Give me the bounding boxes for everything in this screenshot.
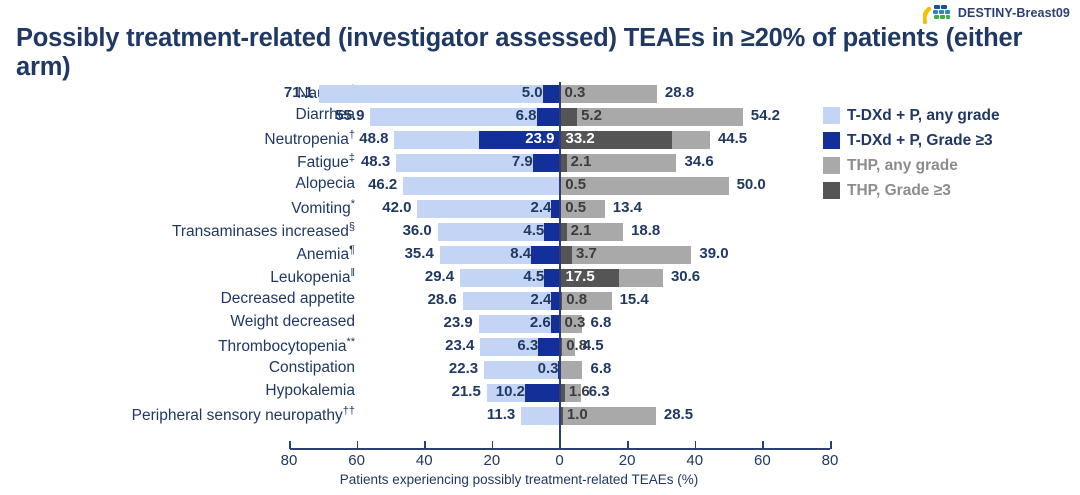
- logo-brand-bold: DESTINY: [958, 6, 1012, 20]
- category-label: Leukopenia‖: [0, 267, 355, 287]
- value-thp-grade3: 0.5: [565, 176, 625, 194]
- value-thp-any-grade: 34.6: [684, 153, 744, 171]
- axis-tick: [492, 441, 494, 449]
- category-label: Hypokalemia: [0, 382, 355, 400]
- value-tdxd-grade3: 7.9: [477, 153, 533, 171]
- legend-item: THP, any grade: [823, 156, 1000, 175]
- value-thp-any-grade: 6.8: [590, 314, 650, 332]
- value-thp-grade3: 0.8: [566, 291, 626, 309]
- bar-tdxd-grade3: [537, 108, 560, 126]
- value-thp-any-grade: 54.2: [751, 107, 811, 125]
- chart-row: Decreased appetite28.62.40.815.4: [0, 289, 1080, 312]
- category-label: Fatigue‡: [0, 152, 355, 172]
- value-tdxd-any-grade: 35.4: [378, 245, 434, 263]
- bar-tdxd-any-grade: [403, 177, 559, 195]
- value-thp-any-grade: 4.5: [583, 337, 643, 355]
- logo-mark: [923, 2, 953, 24]
- chart-row: Hypokalemia21.510.21.66.3: [0, 381, 1080, 404]
- value-tdxd-grade3: 2.4: [495, 199, 551, 217]
- logo-brand-rest: -Breast09: [1012, 6, 1070, 20]
- value-thp-any-grade: 18.8: [631, 222, 691, 240]
- category-label: Peripheral sensory neuropathy††: [0, 405, 355, 425]
- axis-tick-label: 80: [810, 452, 850, 469]
- bar-tdxd-grade3: [525, 384, 559, 402]
- value-tdxd-grade3: 4.5: [488, 222, 544, 240]
- value-tdxd-grade3: 6.3: [482, 337, 538, 355]
- value-thp-any-grade: 44.5: [718, 130, 778, 148]
- axis-tick: [762, 441, 764, 449]
- value-thp-any-grade: 50.0: [737, 176, 797, 194]
- x-axis-label: Patients experiencing possibly treatment…: [0, 472, 1080, 487]
- value-tdxd-grade3: 8.4: [475, 245, 531, 263]
- value-thp-grade3: 33.2: [566, 130, 626, 148]
- value-thp-any-grade: 39.0: [699, 245, 759, 263]
- category-label: Vomiting*: [0, 198, 355, 218]
- category-label: Alopecia: [0, 175, 355, 193]
- axis-tick: [357, 441, 359, 449]
- axis-tick: [560, 441, 562, 449]
- axis-tick-label: 0: [540, 452, 580, 469]
- legend-swatch: [823, 182, 840, 199]
- axis-tick-label: 40: [404, 452, 444, 469]
- value-tdxd-grade3: 0.3: [502, 360, 558, 378]
- bar-thp-grade3: [560, 246, 573, 264]
- legend-label: THP, Grade ≥3: [847, 182, 951, 200]
- value-thp-any-grade: 6.8: [590, 360, 650, 378]
- axis-tick-label: 80: [269, 452, 309, 469]
- legend-label: T-DXd + P, Grade ≥3: [847, 132, 993, 150]
- legend-item: THP, Grade ≥3: [823, 181, 1000, 200]
- category-label: Thrombocytopenia**: [0, 336, 355, 356]
- category-label: Neutropenia†: [0, 129, 355, 149]
- value-thp-grade3: 2.1: [571, 153, 631, 171]
- value-tdxd-any-grade: 29.4: [398, 268, 454, 286]
- axis-tick: [289, 441, 291, 449]
- value-thp-any-grade: 30.6: [671, 268, 731, 286]
- axis-tick-label: 60: [337, 452, 377, 469]
- value-tdxd-grade3: 5.0: [487, 84, 543, 102]
- value-tdxd-any-grade: 28.6: [401, 291, 457, 309]
- page-title: Possibly treatment-related (investigator…: [16, 24, 1066, 82]
- value-thp-any-grade: 6.3: [589, 383, 649, 401]
- logo-text: DESTINY-Breast09: [958, 6, 1070, 20]
- legend-swatch: [823, 157, 840, 174]
- value-tdxd-any-grade: 46.2: [341, 176, 397, 194]
- legend-swatch: [823, 107, 840, 124]
- bar-tdxd-grade3: [543, 85, 560, 103]
- value-thp-grade3: 5.2: [581, 107, 641, 125]
- value-tdxd-any-grade: 42.0: [355, 199, 411, 217]
- value-thp-any-grade: 13.4: [613, 199, 673, 217]
- value-thp-grade3: 1.0: [567, 406, 627, 424]
- chart-legend: T-DXd + P, any gradeT-DXd + P, Grade ≥3T…: [823, 106, 1000, 206]
- value-tdxd-grade3: 2.6: [495, 314, 551, 332]
- bar-thp-any-grade: [560, 361, 583, 379]
- axis-tick-label: 20: [607, 452, 647, 469]
- legend-label: THP, any grade: [847, 157, 958, 175]
- value-tdxd-any-grade: 36.0: [376, 222, 432, 240]
- bar-tdxd-grade3: [533, 154, 560, 172]
- category-label: Anemia¶: [0, 244, 355, 264]
- axis-tick: [627, 441, 629, 449]
- destiny-breast09-logo: DESTINY-Breast09: [923, 2, 1070, 24]
- legend-swatch: [823, 132, 840, 149]
- value-tdxd-any-grade: 23.9: [417, 314, 473, 332]
- chart-row: Anemia¶35.48.43.739.0: [0, 243, 1080, 266]
- category-label: Decreased appetite: [0, 290, 355, 308]
- chart-row: Leukopenia‖29.44.517.530.6: [0, 266, 1080, 289]
- category-label: Constipation: [0, 359, 355, 377]
- category-label: Transaminases increased§: [0, 221, 355, 241]
- value-thp-any-grade: 15.4: [620, 291, 680, 309]
- value-tdxd-grade3: 4.5: [488, 268, 544, 286]
- axis-tick: [695, 441, 697, 449]
- category-label: Weight decreased: [0, 313, 355, 331]
- chart-row: Transaminases increased§36.04.52.118.8: [0, 220, 1080, 243]
- value-tdxd-any-grade: 23.4: [418, 337, 474, 355]
- value-thp-grade3: 3.7: [576, 245, 636, 263]
- value-tdxd-any-grade: 48.3: [334, 153, 390, 171]
- legend-label: T-DXd + P, any grade: [847, 107, 1000, 125]
- value-tdxd-any-grade: 11.3: [459, 406, 515, 424]
- chart-row: Peripheral sensory neuropathy††11.31.028…: [0, 404, 1080, 427]
- bar-thp-grade3: [560, 108, 578, 126]
- value-tdxd-any-grade: 71.1: [257, 84, 313, 102]
- axis-tick: [424, 441, 426, 449]
- bar-tdxd-grade3: [544, 269, 559, 287]
- legend-item: T-DXd + P, Grade ≥3: [823, 131, 1000, 150]
- axis-tick-label: 20: [472, 452, 512, 469]
- chart-row: Nausea*71.15.00.328.8: [0, 82, 1080, 105]
- value-thp-grade3: 17.5: [566, 268, 626, 286]
- value-thp-grade3: 2.1: [571, 222, 631, 240]
- axis-tick-label: 40: [675, 452, 715, 469]
- axis-tick-label: 60: [742, 452, 782, 469]
- value-tdxd-grade3: 23.9: [479, 130, 555, 148]
- value-thp-any-grade: 28.8: [665, 84, 725, 102]
- legend-item: T-DXd + P, any grade: [823, 106, 1000, 125]
- value-tdxd-any-grade: 22.3: [422, 360, 478, 378]
- bar-tdxd-any-grade: [521, 407, 559, 425]
- chart-row: Weight decreased23.92.60.36.8: [0, 312, 1080, 335]
- value-thp-grade3: 0.3: [565, 84, 625, 102]
- chart-row: Constipation22.30.36.8: [0, 358, 1080, 381]
- category-label: Diarrhea: [0, 106, 355, 124]
- value-tdxd-any-grade: 55.9: [308, 107, 364, 125]
- bar-tdxd-grade3: [538, 338, 559, 356]
- bar-tdxd-grade3: [544, 223, 559, 241]
- bar-tdxd-grade3: [531, 246, 559, 264]
- zero-axis-line: [559, 82, 561, 448]
- value-tdxd-grade3: 2.4: [495, 291, 551, 309]
- value-tdxd-grade3: 10.2: [469, 383, 525, 401]
- value-thp-any-grade: 28.5: [664, 406, 724, 424]
- value-tdxd-any-grade: 48.8: [332, 130, 388, 148]
- axis-tick: [830, 441, 832, 449]
- value-tdxd-grade3: 6.8: [481, 107, 537, 125]
- chart-row: Thrombocytopenia**23.46.30.84.5: [0, 335, 1080, 358]
